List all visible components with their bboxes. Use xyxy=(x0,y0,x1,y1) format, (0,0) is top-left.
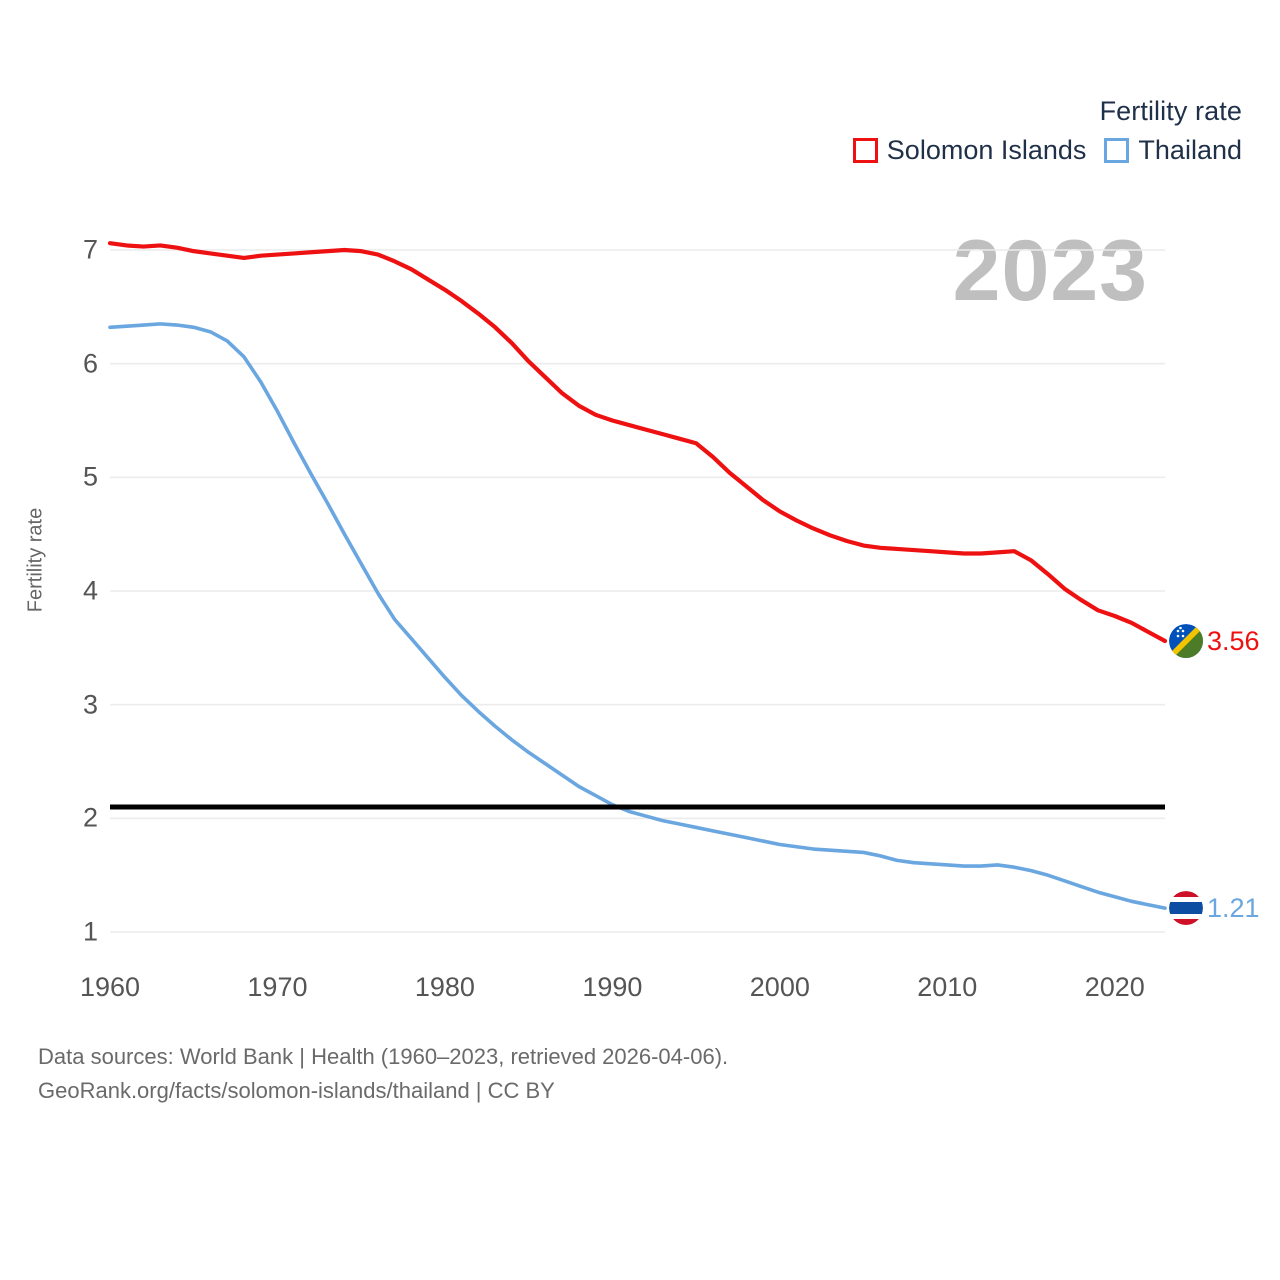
y-tick-label: 2 xyxy=(52,803,98,834)
thailand-flag-icon xyxy=(1169,891,1203,925)
endpoint-value-solomon-islands: 3.56 xyxy=(1207,628,1260,655)
y-tick-label: 4 xyxy=(52,576,98,607)
x-tick-label: 1970 xyxy=(247,972,307,1003)
y-tick-label: 1 xyxy=(52,917,98,948)
y-tick-label: 6 xyxy=(52,348,98,379)
series-line-thailand xyxy=(110,324,1165,908)
x-tick-label: 2000 xyxy=(750,972,810,1003)
y-tick-label: 7 xyxy=(52,235,98,266)
x-tick-label: 2020 xyxy=(1085,972,1145,1003)
footer-line-1: Data sources: World Bank | Health (1960–… xyxy=(38,1040,728,1074)
endpoint-solomon-islands: 3.56 xyxy=(1169,624,1260,658)
endpoint-value-thailand: 1.21 xyxy=(1207,895,1260,922)
footer-line-2: GeoRank.org/facts/solomon-islands/thaila… xyxy=(38,1074,728,1108)
x-tick-label: 2010 xyxy=(917,972,977,1003)
x-tick-label: 1990 xyxy=(582,972,642,1003)
footer-credits: Data sources: World Bank | Health (1960–… xyxy=(38,1040,728,1108)
series-line-solomon-islands xyxy=(110,243,1165,641)
fertility-rate-chart: Fertility rate Solomon Islands Thailand … xyxy=(0,0,1280,1280)
y-tick-label: 3 xyxy=(52,689,98,720)
endpoint-thailand: 1.21 xyxy=(1169,891,1260,925)
x-tick-label: 1960 xyxy=(80,972,140,1003)
solomon-islands-flag-icon xyxy=(1169,624,1203,658)
y-tick-label: 5 xyxy=(52,462,98,493)
x-tick-label: 1980 xyxy=(415,972,475,1003)
